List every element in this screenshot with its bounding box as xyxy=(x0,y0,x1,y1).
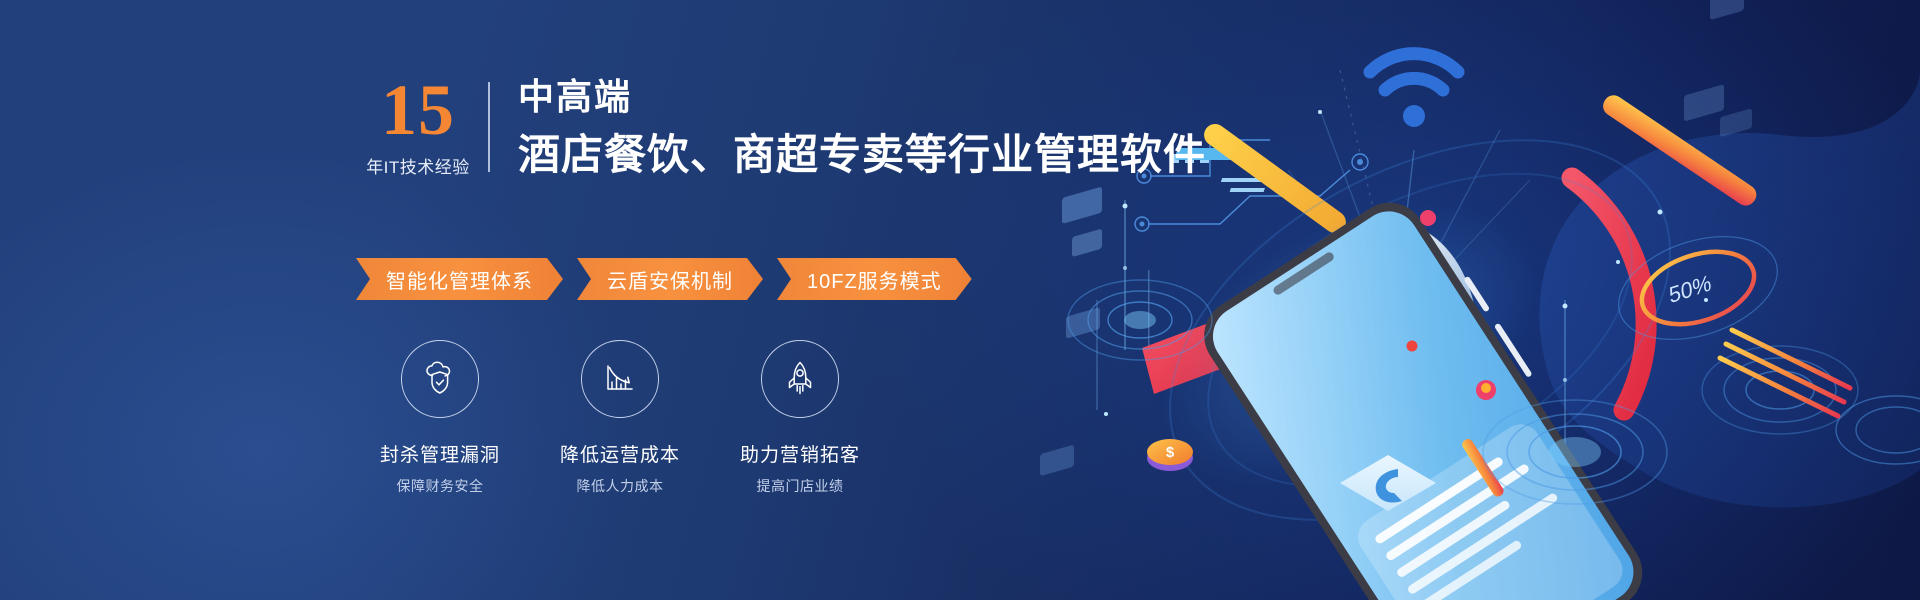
feature-tag-2[interactable]: 云盾安保机制 xyxy=(577,258,763,300)
years-number: 15 xyxy=(381,77,455,143)
headline-line-1: 中高端 xyxy=(518,76,1206,117)
feature-subtitle-2: 降低人力成本 xyxy=(577,476,664,496)
headline-block: 15 年IT技术经验 中高端 酒店餐饮、商超专卖等行业管理软件 xyxy=(356,76,1206,180)
rocket-icon xyxy=(779,358,821,400)
feature-icon-circle-1 xyxy=(401,340,479,418)
feature-tag-list: 智能化管理体系 云盾安保机制 10FZ服务模式 xyxy=(356,258,972,300)
years-experience-block: 15 年IT技术经验 xyxy=(356,76,488,180)
declining-bar-chart-icon xyxy=(599,358,641,400)
feature-icon-circle-2 xyxy=(581,340,659,418)
feature-item-3[interactable]: 助力营销拓客 提高门店业绩 xyxy=(710,340,890,496)
red-dot-small xyxy=(1407,341,1418,352)
wifi-signal-icon xyxy=(1370,54,1458,127)
years-caption: 年IT技术经验 xyxy=(366,153,470,178)
promo-banner: $ xyxy=(0,0,1920,600)
feature-icon-circle-3 xyxy=(761,340,839,418)
feature-list: 封杀管理漏洞 保障财务安全 降低运营成本 降低人力成本 xyxy=(350,340,890,496)
feature-title-3: 助力营销拓客 xyxy=(740,440,860,467)
banner-content: 15 年IT技术经验 中高端 酒店餐饮、商超专卖等行业管理软件 智能化管理体系 … xyxy=(356,0,1256,600)
vertical-divider xyxy=(488,82,490,172)
feature-item-1[interactable]: 封杀管理漏洞 保障财务安全 xyxy=(350,340,530,496)
feature-subtitle-1: 保障财务安全 xyxy=(397,476,484,496)
feature-tag-3[interactable]: 10FZ服务模式 xyxy=(777,258,972,300)
magenta-dot-core xyxy=(1481,383,1491,393)
feature-title-1: 封杀管理漏洞 xyxy=(380,440,500,467)
feature-subtitle-3: 提高门店业绩 xyxy=(757,476,844,496)
feature-item-2[interactable]: 降低运营成本 降低人力成本 xyxy=(530,340,710,496)
feature-title-2: 降低运营成本 xyxy=(560,440,680,467)
feature-tag-1[interactable]: 智能化管理体系 xyxy=(356,258,563,300)
headline-text-block: 中高端 酒店餐饮、商超专卖等行业管理软件 xyxy=(490,76,1206,180)
headline-line-2: 酒店餐饮、商超专卖等行业管理软件 xyxy=(518,131,1206,179)
pink-dot xyxy=(1420,210,1436,226)
cloud-shield-icon xyxy=(419,358,461,400)
